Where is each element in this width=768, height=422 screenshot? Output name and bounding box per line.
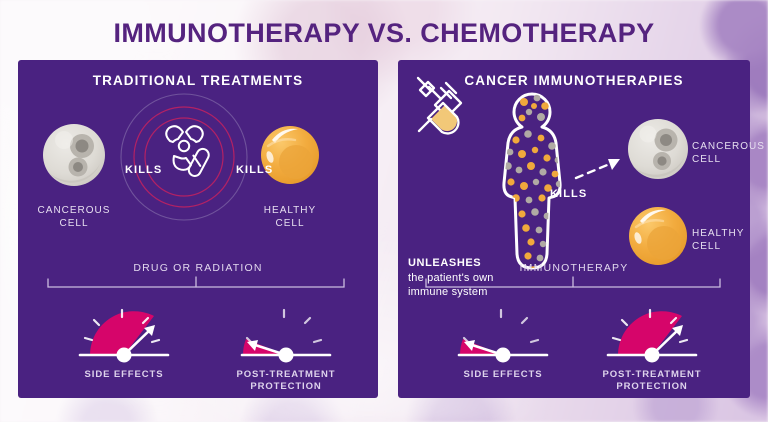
unleashes-body: the patient's own immune system — [408, 272, 494, 299]
gauge-post-treatment-protection-low — [242, 310, 330, 363]
gauge-side-effects-low — [459, 310, 547, 363]
drug-or-radiation-bracket — [48, 277, 344, 287]
radiation-rings — [121, 94, 247, 220]
immunotherapy-label: IMMUNOTHERAPY — [398, 262, 750, 274]
kills-label-right: KILLS — [236, 164, 273, 176]
radiation-and-pill-icon — [166, 126, 211, 178]
kills-label: KILLS — [550, 188, 587, 200]
gauge-label-post-treatment-protection: POST-TREATMENT PROTECTION — [587, 369, 717, 393]
panel-traditional-treatments: TRADITIONAL TREATMENTS — [18, 60, 378, 398]
healthy-cell-label: HEALTHY CELL — [692, 227, 768, 253]
healthy-cell-label: HEALTHY CELL — [240, 204, 340, 230]
gauge-label-side-effects: SIDE EFFECTS — [438, 369, 568, 381]
gauge-side-effects-high — [80, 310, 168, 363]
gauge-label-side-effects: SIDE EFFECTS — [59, 369, 189, 381]
cancerous-cell-label: CANCEROUS CELL — [692, 140, 768, 166]
cancerous-cell-label: CANCEROUS CELL — [24, 204, 124, 230]
panel-cancer-immunotherapies: CANCER IMMUNOTHERAPIES — [398, 60, 750, 398]
drug-or-radiation-label: DRUG OR RADIATION — [18, 262, 378, 274]
gauge-post-treatment-protection-high — [608, 310, 696, 363]
kills-dashed-arrow — [576, 159, 620, 178]
cancerous-cell-icon — [43, 124, 105, 186]
kills-label-left: KILLS — [125, 164, 162, 176]
infographic-root: IMMUNOTHERAPY VS. CHEMOTHERAPY TRADITION… — [0, 0, 768, 422]
gauge-label-post-treatment-protection: POST-TREATMENT PROTECTION — [221, 369, 351, 393]
healthy-cell-icon — [629, 207, 687, 265]
page-title: IMMUNOTHERAPY VS. CHEMOTHERAPY — [0, 18, 768, 49]
cancerous-cell-icon — [628, 119, 688, 179]
syringe-barrel-fill — [419, 103, 458, 133]
